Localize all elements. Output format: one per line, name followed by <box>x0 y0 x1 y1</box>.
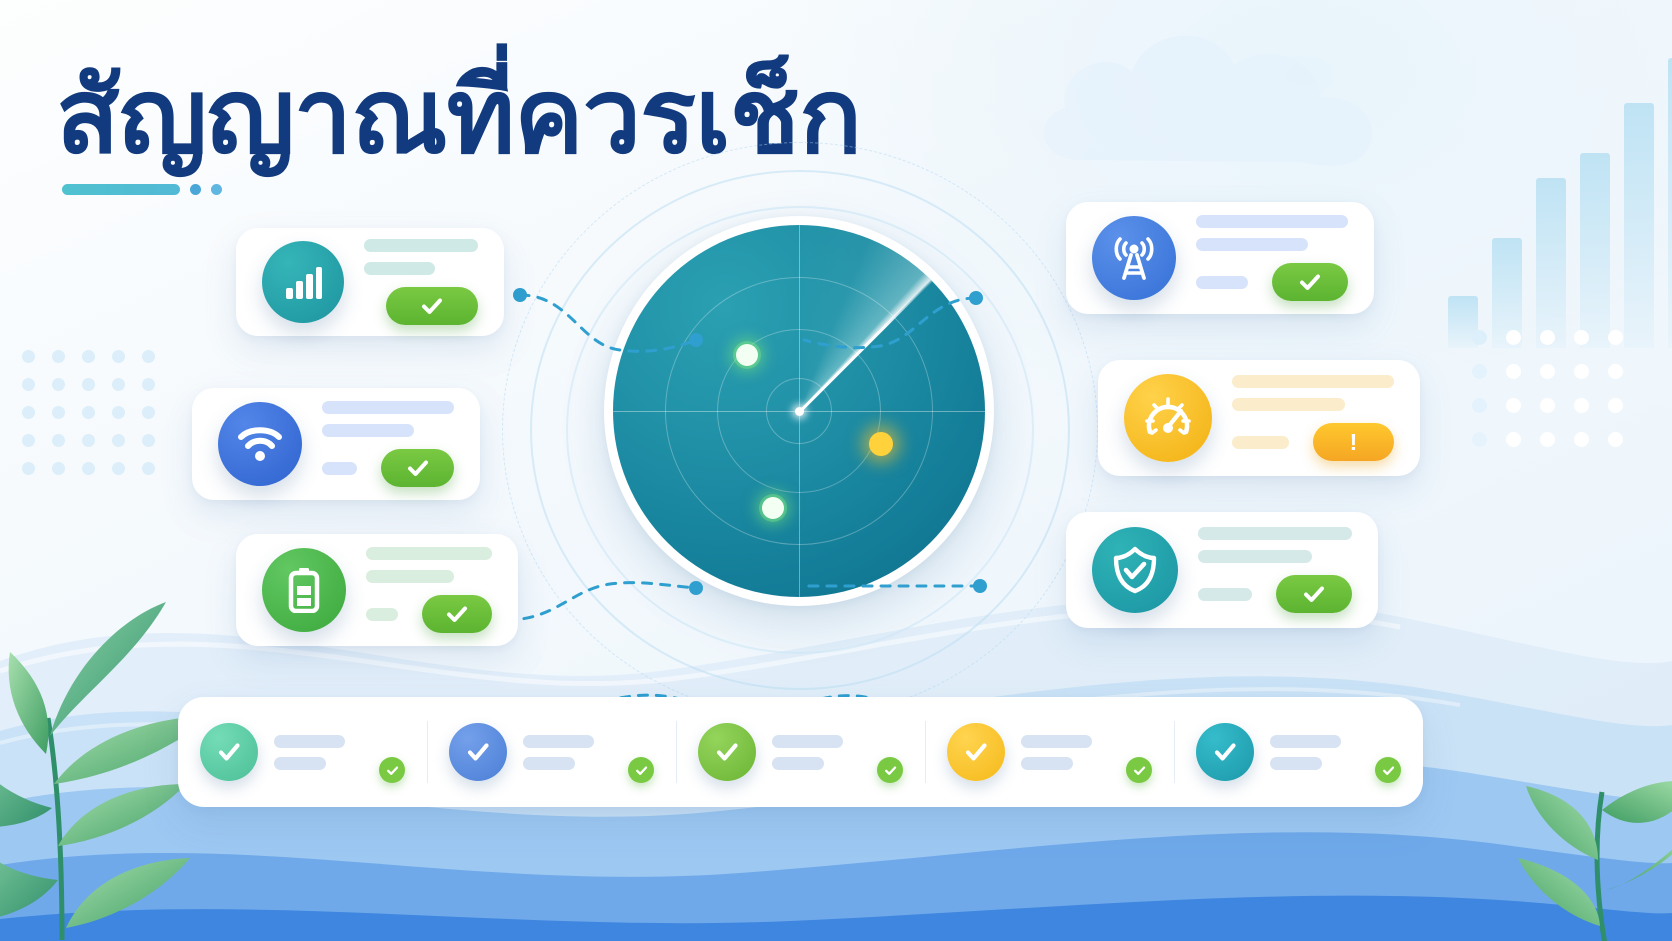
check-circle <box>947 723 1005 781</box>
check-icon <box>405 455 431 481</box>
check-icon <box>1301 581 1327 607</box>
broadcast-tower-icon <box>1092 216 1176 300</box>
checklist-item-5[interactable] <box>1174 721 1423 783</box>
checklist-item-3[interactable] <box>676 721 925 783</box>
placeholder-line <box>523 757 575 770</box>
check-icon <box>385 763 400 778</box>
check-icon <box>1381 763 1396 778</box>
card-cell-tower[interactable] <box>1066 202 1374 314</box>
card-battery[interactable] <box>236 534 518 646</box>
check-badge <box>1375 757 1401 783</box>
status-badge-ok[interactable] <box>381 449 454 487</box>
placeholder-line <box>366 570 454 583</box>
card-signal-strength[interactable] <box>236 228 504 336</box>
check-icon <box>883 763 898 778</box>
check-circle <box>200 723 258 781</box>
check-icon <box>215 738 243 766</box>
status-badge-ok[interactable] <box>1276 575 1352 613</box>
check-icon <box>962 738 990 766</box>
placeholder-line <box>1198 550 1312 563</box>
placeholder-lines <box>523 735 612 770</box>
check-badge <box>1126 757 1152 783</box>
check-icon <box>464 738 492 766</box>
infographic-canvas: สัญญาณที่ควรเช็ก <box>0 0 1672 941</box>
placeholder-line <box>772 735 843 748</box>
placeholder-line <box>1232 375 1394 388</box>
placeholder-line <box>274 757 326 770</box>
check-circle <box>449 723 507 781</box>
placeholder-lines <box>1021 735 1110 770</box>
checklist-item-2[interactable] <box>427 721 676 783</box>
shield-check-icon <box>1092 527 1178 613</box>
check-circle <box>698 723 756 781</box>
battery-icon <box>262 548 346 632</box>
status-badge-ok[interactable] <box>386 287 478 325</box>
placeholder-line <box>366 608 398 621</box>
placeholder-line <box>1232 398 1345 411</box>
card-text-placeholders <box>366 547 492 633</box>
gauge-icon <box>1124 374 1212 462</box>
placeholder-line <box>1021 735 1092 748</box>
background-bar-chart <box>1448 48 1672 348</box>
card-status-row <box>364 287 478 325</box>
card-security-shield[interactable] <box>1066 512 1378 628</box>
placeholder-line <box>1270 735 1341 748</box>
check-icon <box>1132 763 1147 778</box>
placeholder-line <box>322 424 414 437</box>
card-status-row <box>366 595 492 633</box>
card-status-row <box>322 449 454 487</box>
card-status-row <box>1196 263 1348 301</box>
placeholder-line <box>274 735 345 748</box>
placeholder-line <box>1196 238 1308 251</box>
check-badge <box>877 757 903 783</box>
exclamation-icon: ! <box>1350 431 1358 454</box>
placeholder-line <box>772 757 824 770</box>
placeholder-line <box>366 547 492 560</box>
placeholder-line <box>364 262 435 275</box>
placeholder-line <box>1232 436 1289 449</box>
card-text-placeholders: ! <box>1232 375 1394 461</box>
signal-bars-icon <box>262 241 344 323</box>
status-badge-ok[interactable] <box>422 595 492 633</box>
background-leaf-cluster-right <box>1456 700 1672 941</box>
check-icon <box>1211 738 1239 766</box>
radar-connector-lines <box>460 150 1140 710</box>
check-badge <box>379 757 405 783</box>
signal-radar-display <box>520 160 1080 700</box>
check-icon <box>419 293 445 319</box>
check-icon <box>713 738 741 766</box>
placeholder-line <box>1021 757 1073 770</box>
background-dot-grid-right <box>1472 330 1642 466</box>
checklist-item-1[interactable] <box>178 721 427 783</box>
placeholder-line <box>1196 276 1248 289</box>
card-wifi[interactable] <box>192 388 480 500</box>
card-status-row <box>1198 575 1352 613</box>
placeholder-line <box>1198 588 1252 601</box>
check-badge <box>628 757 654 783</box>
placeholder-line <box>1270 757 1322 770</box>
placeholder-line <box>523 735 594 748</box>
card-text-placeholders <box>364 239 478 325</box>
status-badge-warning[interactable]: ! <box>1313 423 1394 461</box>
placeholder-line <box>322 401 454 414</box>
check-circle <box>1196 723 1254 781</box>
check-icon <box>634 763 649 778</box>
placeholder-lines <box>274 735 363 770</box>
card-status-row: ! <box>1232 423 1394 461</box>
checklist-item-4[interactable] <box>925 721 1174 783</box>
status-badge-ok[interactable] <box>1272 263 1348 301</box>
card-speed-gauge[interactable]: ! <box>1098 360 1420 476</box>
checklist-summary-bar <box>178 697 1423 807</box>
card-text-placeholders <box>1198 527 1352 613</box>
title-accent-dot-2 <box>211 184 222 195</box>
check-icon <box>444 601 470 627</box>
background-dot-grid-left <box>22 350 172 490</box>
card-text-placeholders <box>322 401 454 487</box>
wifi-icon <box>218 402 302 486</box>
placeholder-lines <box>1270 735 1359 770</box>
title-accent-dot-1 <box>190 184 201 195</box>
placeholder-line <box>322 462 357 475</box>
title-accent-bar <box>62 184 180 195</box>
check-icon <box>1297 269 1323 295</box>
placeholder-lines <box>772 735 861 770</box>
placeholder-line <box>1198 527 1352 540</box>
placeholder-line <box>1196 215 1348 228</box>
card-text-placeholders <box>1196 215 1348 301</box>
placeholder-line <box>364 239 478 252</box>
